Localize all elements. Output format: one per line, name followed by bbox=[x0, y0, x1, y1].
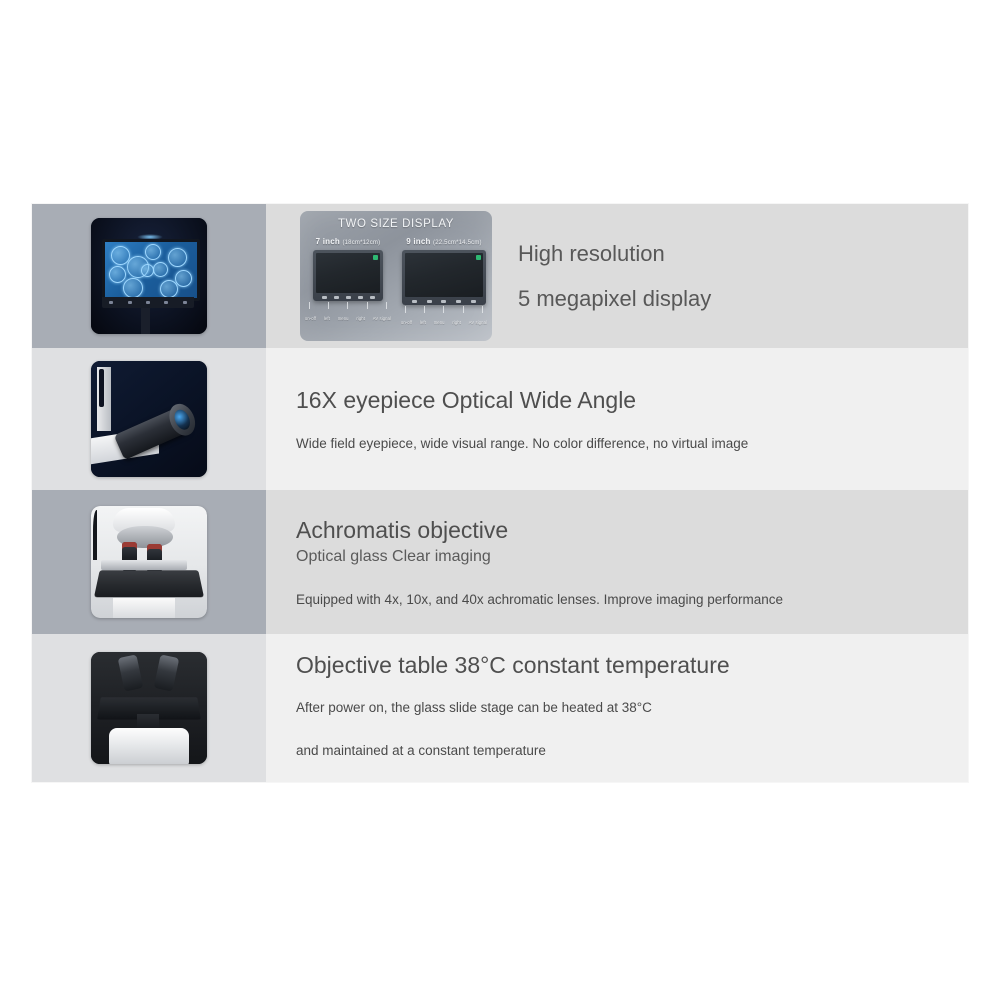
feature-headline-line-2: 5 megapixel display bbox=[518, 287, 711, 310]
monitor-screen bbox=[102, 239, 200, 301]
microscope-arm bbox=[97, 367, 111, 431]
content-cell: TWO SIZE DISPLAY 7 inch (18cm*12cm) bbox=[266, 204, 968, 348]
feature-heading: 16X eyepiece Optical Wide Angle bbox=[296, 387, 748, 414]
power-cable bbox=[93, 510, 102, 560]
microscope-front-view-with-heated-stage-image bbox=[91, 652, 207, 764]
microscope-objective-turret-image bbox=[91, 506, 207, 618]
content-cell: Objective table 38°C constant temperatur… bbox=[266, 634, 968, 782]
content-cell: Achromatis objective Optical glass Clear… bbox=[266, 490, 968, 634]
button-labels-9inch: on-off left menu right AV signal bbox=[396, 320, 492, 325]
content-cell: 16X eyepiece Optical Wide Angle Wide fie… bbox=[266, 348, 968, 490]
feature-subheading: Optical glass Clear imaging bbox=[296, 548, 783, 566]
lcd-monitor-showing-microscope-cells-image bbox=[91, 218, 207, 334]
feature-heading: Achromatis objective bbox=[296, 517, 783, 544]
feature-body-line-2: and maintained at a constant temperature bbox=[296, 738, 730, 764]
feature-text-high-resolution: High resolution 5 megapixel display bbox=[266, 242, 711, 309]
feature-body-line-1: Wide field eyepiece, wide visual range. … bbox=[296, 436, 748, 451]
feature-row-high-resolution: TWO SIZE DISPLAY 7 inch (18cm*12cm) bbox=[32, 204, 968, 348]
microscope-stage bbox=[94, 570, 204, 597]
feature-row-objective: Achromatis objective Optical glass Clear… bbox=[32, 490, 968, 634]
microscope-rod bbox=[99, 369, 104, 407]
thumbnail-cell bbox=[32, 490, 266, 634]
button-labels-7inch: on-off left menu right AV signal bbox=[300, 316, 396, 321]
feature-text-objective-table: Objective table 38°C constant temperatur… bbox=[266, 652, 730, 764]
thumbnail-cell bbox=[32, 204, 266, 348]
feature-heading: Objective table 38°C constant temperatur… bbox=[296, 652, 730, 679]
feature-row-objective-table: Objective table 38°C constant temperatur… bbox=[32, 634, 968, 782]
microscope-base bbox=[109, 728, 189, 764]
display-panel-title: TWO SIZE DISPLAY bbox=[300, 218, 492, 230]
slide-holder bbox=[101, 560, 187, 570]
feature-list-card: TWO SIZE DISPLAY 7 inch (18cm*12cm) bbox=[32, 204, 968, 782]
feature-body-line-1: Equipped with 4x, 10x, and 40x achromati… bbox=[296, 592, 783, 607]
monitor-stand bbox=[141, 308, 150, 334]
monitor-bezel-buttons bbox=[102, 297, 194, 308]
thumbnail-cell bbox=[32, 634, 266, 782]
microscope-eyepiece-image bbox=[91, 361, 207, 477]
eyepiece-lens bbox=[172, 407, 193, 432]
feature-row-eyepiece: 16X eyepiece Optical Wide Angle Wide fie… bbox=[32, 348, 968, 490]
feature-headline-line-1: High resolution bbox=[518, 242, 711, 265]
thumbnail-cell bbox=[32, 348, 266, 490]
feature-text-objective: Achromatis objective Optical glass Clear… bbox=[266, 517, 783, 607]
feature-body-line-1: After power on, the glass slide stage ca… bbox=[296, 695, 730, 721]
feature-text-eyepiece: 16X eyepiece Optical Wide Angle Wide fie… bbox=[266, 387, 748, 451]
microscope-base bbox=[113, 598, 175, 618]
